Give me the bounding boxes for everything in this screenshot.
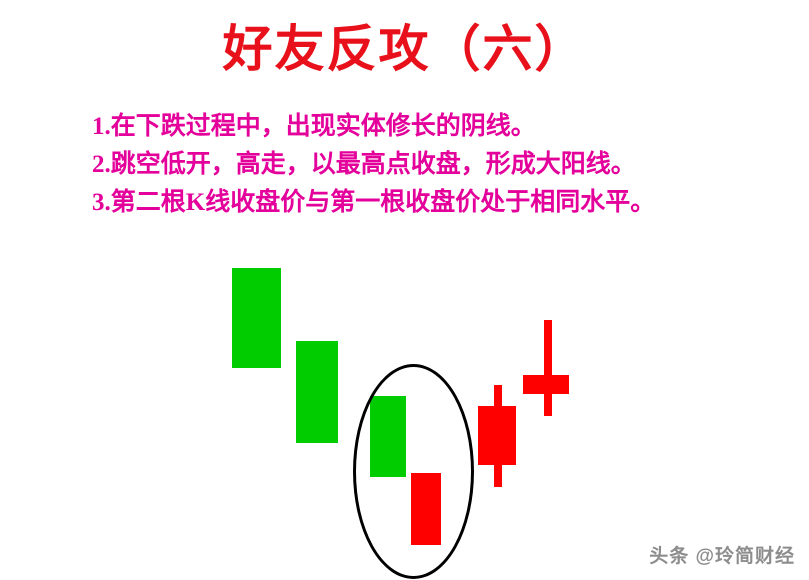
candle-6-wick bbox=[544, 320, 552, 416]
pattern-highlight-ellipse bbox=[353, 364, 474, 579]
candle-2-body bbox=[296, 341, 338, 443]
candle-5-body bbox=[478, 406, 516, 465]
slide-canvas: 好友反攻（六） 1.在下跌过程中，出现实体修长的阴线。 2.跳空低开，高走，以最… bbox=[0, 0, 809, 580]
watermark-label: 头条 @玲简财经 bbox=[649, 541, 795, 568]
candle-1-body bbox=[232, 268, 281, 368]
candlestick-chart bbox=[0, 0, 809, 580]
candle-6-body bbox=[523, 375, 569, 394]
